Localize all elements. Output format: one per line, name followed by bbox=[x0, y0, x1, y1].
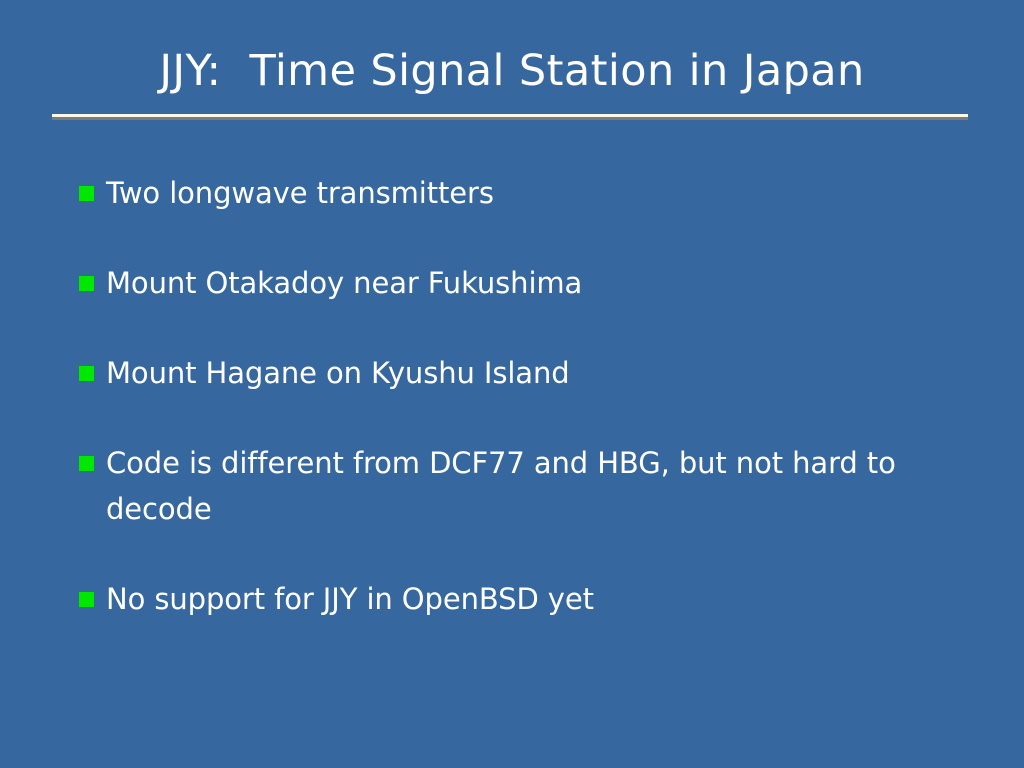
list-item: No support for JJY in OpenBSD yet bbox=[79, 576, 979, 622]
bullet-text: Code is different from DCF77 and HBG, bu… bbox=[106, 440, 961, 532]
page-title: JJY: Time Signal Station in Japan bbox=[0, 46, 1024, 96]
list-item: Code is different from DCF77 and HBG, bu… bbox=[79, 440, 979, 532]
green-square-bullet-icon bbox=[79, 186, 94, 201]
green-square-bullet-icon bbox=[79, 366, 94, 381]
bullet-text: Mount Hagane on Kyushu Island bbox=[106, 350, 979, 396]
title-underline-rule bbox=[52, 114, 968, 120]
slide-title-block: JJY: Time Signal Station in Japan bbox=[0, 46, 1024, 96]
bullet-list: Two longwave transmitters Mount Otakadoy… bbox=[79, 170, 979, 622]
list-item: Two longwave transmitters bbox=[79, 170, 979, 216]
title-rule-shadow bbox=[52, 117, 968, 120]
green-square-bullet-icon bbox=[79, 276, 94, 291]
green-square-bullet-icon bbox=[79, 456, 94, 471]
presentation-slide: JJY: Time Signal Station in Japan Two lo… bbox=[0, 0, 1024, 768]
bullet-text: Mount Otakadoy near Fukushima bbox=[106, 260, 979, 306]
bullet-text: Two longwave transmitters bbox=[106, 170, 979, 216]
list-item: Mount Hagane on Kyushu Island bbox=[79, 350, 979, 396]
green-square-bullet-icon bbox=[79, 592, 94, 607]
list-item: Mount Otakadoy near Fukushima bbox=[79, 260, 979, 306]
bullet-text: No support for JJY in OpenBSD yet bbox=[106, 576, 979, 622]
